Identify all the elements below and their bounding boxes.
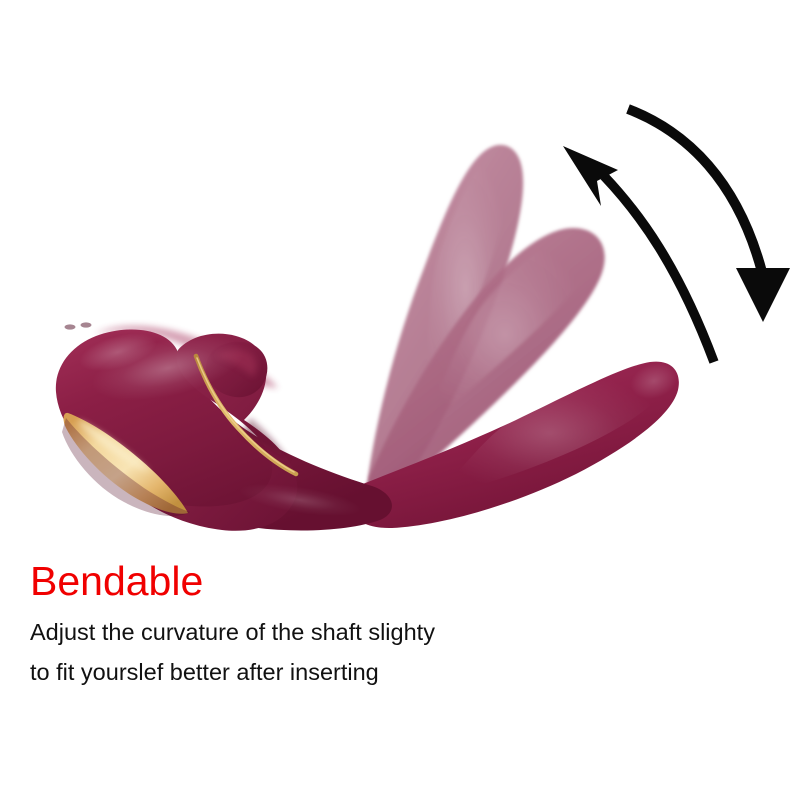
caption-block: Bendable Adjust the curvature of the sha…: [30, 558, 770, 690]
bend-arrow-down: [628, 109, 790, 322]
product-feature-slide: Bendable Adjust the curvature of the sha…: [0, 0, 800, 800]
description-line-2: to fit yourslef better after inserting: [30, 654, 770, 690]
control-buttons[interactable]: [65, 322, 92, 329]
page-title: Bendable: [30, 558, 770, 604]
handle-body: [56, 322, 392, 530]
description-line-1: Adjust the curvature of the shaft slight…: [30, 614, 770, 650]
